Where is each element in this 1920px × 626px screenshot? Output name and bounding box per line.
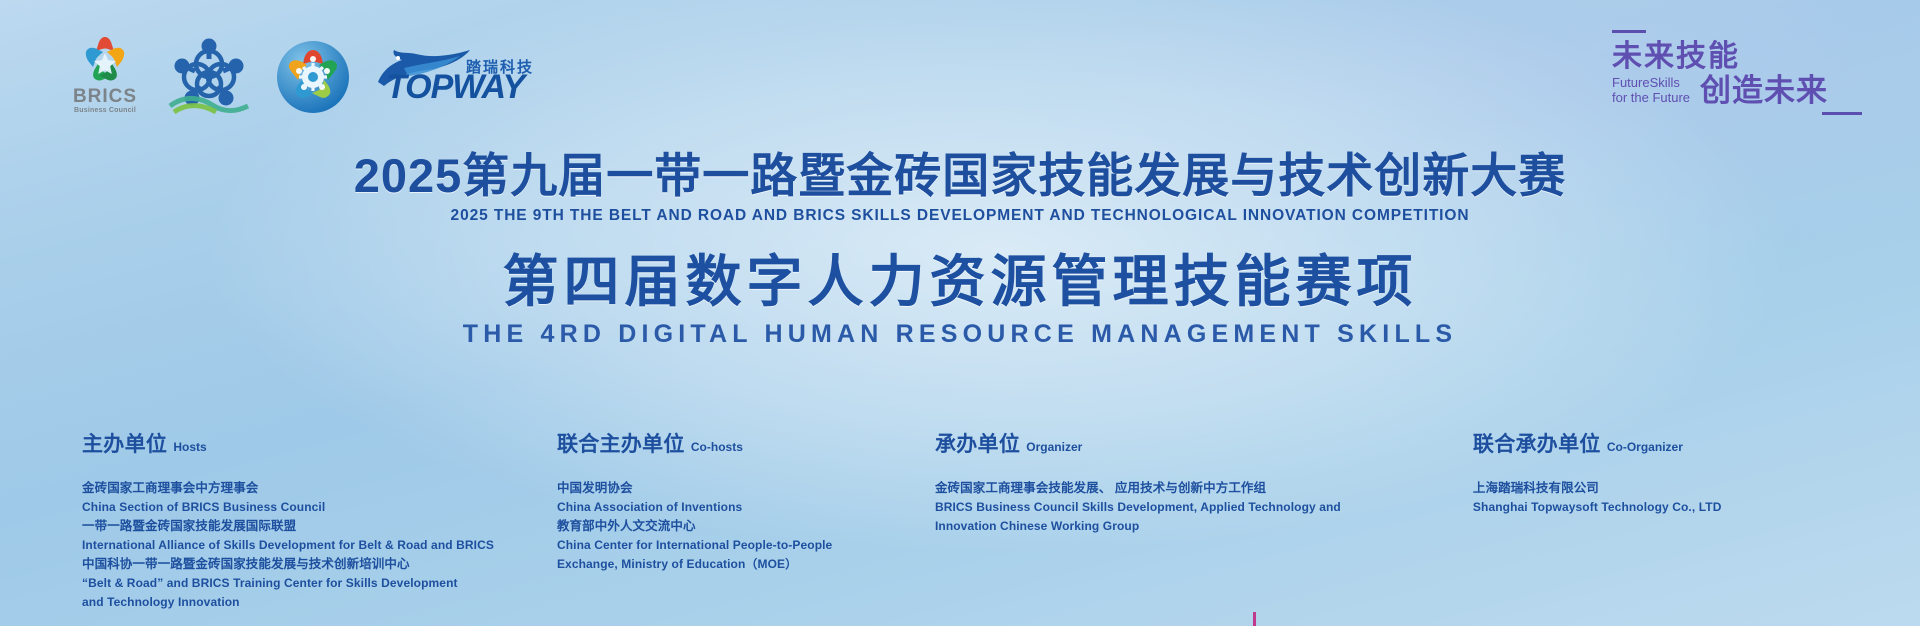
organizer-column-organizer: 承办单位 Organizer 金砖国家工商理事会技能发展、 应用技术与创新中方工… — [935, 428, 1473, 612]
title-block: 2025第九届一带一路暨金砖国家技能发展与技术创新大赛 2025 THE 9TH… — [0, 150, 1920, 349]
column-heading: 联合承办单位 Co-Organizer — [1473, 428, 1880, 458]
slogan-english-line-1: FutureSkills — [1612, 76, 1690, 91]
slogan-rule-bottom — [1822, 112, 1862, 115]
organizer-line: 一带一路暨金砖国家技能发展国际联盟 — [82, 517, 557, 536]
organizer-column-hosts: 主办单位 Hosts 金砖国家工商理事会中方理事会 China Section … — [82, 428, 557, 612]
slogan-line-2: 创造未来 — [1700, 75, 1828, 106]
organizer-line: 中国科协一带一路暨金砖国家技能发展与技术创新培训中心 — [82, 555, 557, 574]
skills-alliance-knot-logo — [168, 32, 250, 114]
brics-star-icon — [78, 33, 132, 85]
organizer-line: International Alliance of Skills Develop… — [82, 536, 557, 555]
organizer-line: 中国发明协会 — [557, 479, 935, 498]
column-heading: 承办单位 Organizer — [935, 428, 1473, 458]
brics-skills-emblem-logo — [276, 40, 350, 114]
column-heading-en: Co-hosts — [691, 440, 743, 454]
organizer-line: 教育部中外人文交流中心 — [557, 517, 935, 536]
column-heading-cn: 主办单位 — [82, 433, 167, 456]
bottom-accent-tick — [1253, 612, 1256, 626]
column-heading-en: Organizer — [1026, 440, 1082, 454]
column-heading: 联合主办单位 Co-hosts — [557, 428, 935, 458]
organizer-column-coorganizer: 联合承办单位 Co-Organizer 上海踏瑞科技有限公司 Shanghai … — [1473, 428, 1880, 612]
organizer-line: China Section of BRICS Business Council — [82, 498, 557, 517]
slogan-english: FutureSkills for the Future — [1612, 76, 1690, 105]
future-skills-slogan: 未来技能 FutureSkills for the Future 创造未来 — [1612, 30, 1862, 115]
topway-wordmark: TOPWAY — [386, 70, 524, 104]
organizer-line: 上海踏瑞科技有限公司 — [1473, 479, 1880, 498]
slogan-line-1: 未来技能 — [1612, 41, 1862, 73]
column-heading-cn: 联合承办单位 — [1473, 433, 1601, 456]
competition-title-cn: 2025第九届一带一路暨金砖国家技能发展与技术创新大赛 — [0, 150, 1920, 202]
column-heading-en: Hosts — [173, 440, 206, 454]
organizer-line: “Belt & Road” and BRICS Training Center … — [82, 574, 557, 593]
column-heading-cn: 承办单位 — [935, 433, 1020, 456]
organizer-line: BRICS Business Council Skills Developmen… — [935, 498, 1473, 517]
brics-logo-subtitle: Business Council — [68, 107, 142, 114]
event-title-en: THE 4RD DIGITAL HUMAN RESOURCE MANAGEMEN… — [0, 320, 1920, 349]
organizer-line: China Association of Inventions — [557, 498, 935, 517]
brics-logo-title: BRICS — [68, 87, 142, 106]
column-heading-en: Co-Organizer — [1607, 440, 1683, 454]
brics-business-council-logo: BRICS Business Council — [68, 33, 142, 114]
partner-logo-row: BRICS Business Council — [68, 32, 536, 114]
organizer-line: China Center for International People-to… — [557, 536, 935, 555]
organizer-line: 金砖国家工商理事会中方理事会 — [82, 479, 557, 498]
organizer-column-cohosts: 联合主办单位 Co-hosts 中国发明协会 China Association… — [557, 428, 935, 612]
slogan-rule-top — [1612, 30, 1646, 33]
column-heading-cn: 联合主办单位 — [557, 433, 685, 456]
slogan-english-line-2: for the Future — [1612, 91, 1690, 106]
organizer-line: Shanghai Topwaysoft Technology Co., LTD — [1473, 498, 1880, 517]
topway-logo: 踏瑞科技 TOPWAY — [376, 44, 536, 114]
poster-canvas: BRICS Business Council — [0, 0, 1920, 626]
organizer-line: and Technology Innovation — [82, 593, 557, 612]
event-title-cn: 第四届数字人力资源管理技能赛项 — [0, 250, 1920, 314]
organizer-columns: 主办单位 Hosts 金砖国家工商理事会中方理事会 China Section … — [82, 428, 1880, 612]
organizer-line: Exchange, Ministry of Education（MOE） — [557, 555, 935, 574]
competition-title-en: 2025 THE 9TH THE BELT AND ROAD AND BRICS… — [0, 207, 1920, 225]
column-heading: 主办单位 Hosts — [82, 428, 557, 458]
organizer-line: 金砖国家工商理事会技能发展、 应用技术与创新中方工作组 — [935, 479, 1473, 498]
organizer-line: Innovation Chinese Working Group — [935, 517, 1473, 536]
